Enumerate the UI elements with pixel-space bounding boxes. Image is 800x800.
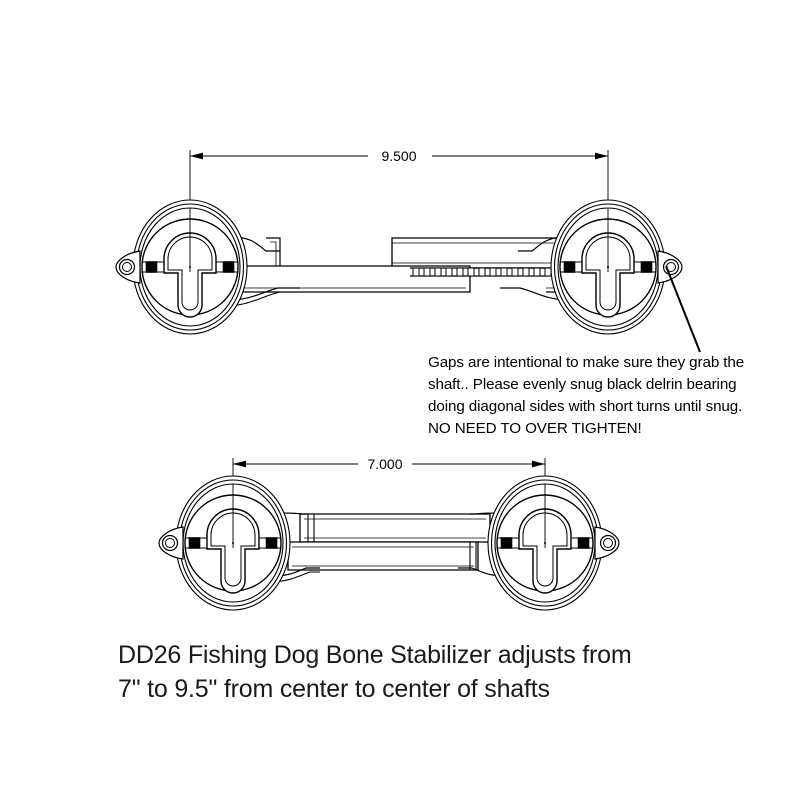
top-upper-telescoping-bar — [392, 238, 560, 268]
bottom-upper-telescoping-bar — [300, 514, 490, 542]
top-assembly-extended: 9.500 — [116, 148, 700, 352]
product-caption: DD26 Fishing Dog Bone Stabilizer adjusts… — [118, 638, 738, 706]
bottom-right-hinge-lug — [595, 527, 619, 559]
annotation-leader-line — [666, 266, 700, 352]
drawing-sheet: 9.500 — [0, 0, 800, 800]
annotation-note-line-2: shaft.. Please evenly snug black delrin … — [428, 374, 800, 396]
bottom-assembly-retracted: 7.000 — [159, 456, 619, 610]
bottom-left-hinge-lug — [159, 527, 183, 559]
annotation-note-line-1: Gaps are intentional to make sure they g… — [428, 352, 800, 374]
top-left-hinge-lug — [116, 251, 140, 283]
product-caption-line-2: 7" to 9.5" from center to center of shaf… — [118, 672, 738, 706]
dimension-9500-label: 9.500 — [381, 148, 416, 164]
annotation-note-line-4: NO NEED TO OVER TIGHTEN! — [428, 418, 800, 440]
annotation-note: Gaps are intentional to make sure they g… — [428, 352, 800, 440]
dimension-7000-label: 7.000 — [367, 456, 402, 472]
bottom-lower-telescoping-bar — [288, 542, 478, 570]
annotation-note-line-3: doing diagonal sides with short turns un… — [428, 396, 800, 418]
product-caption-line-1: DD26 Fishing Dog Bone Stabilizer adjusts… — [118, 638, 738, 672]
